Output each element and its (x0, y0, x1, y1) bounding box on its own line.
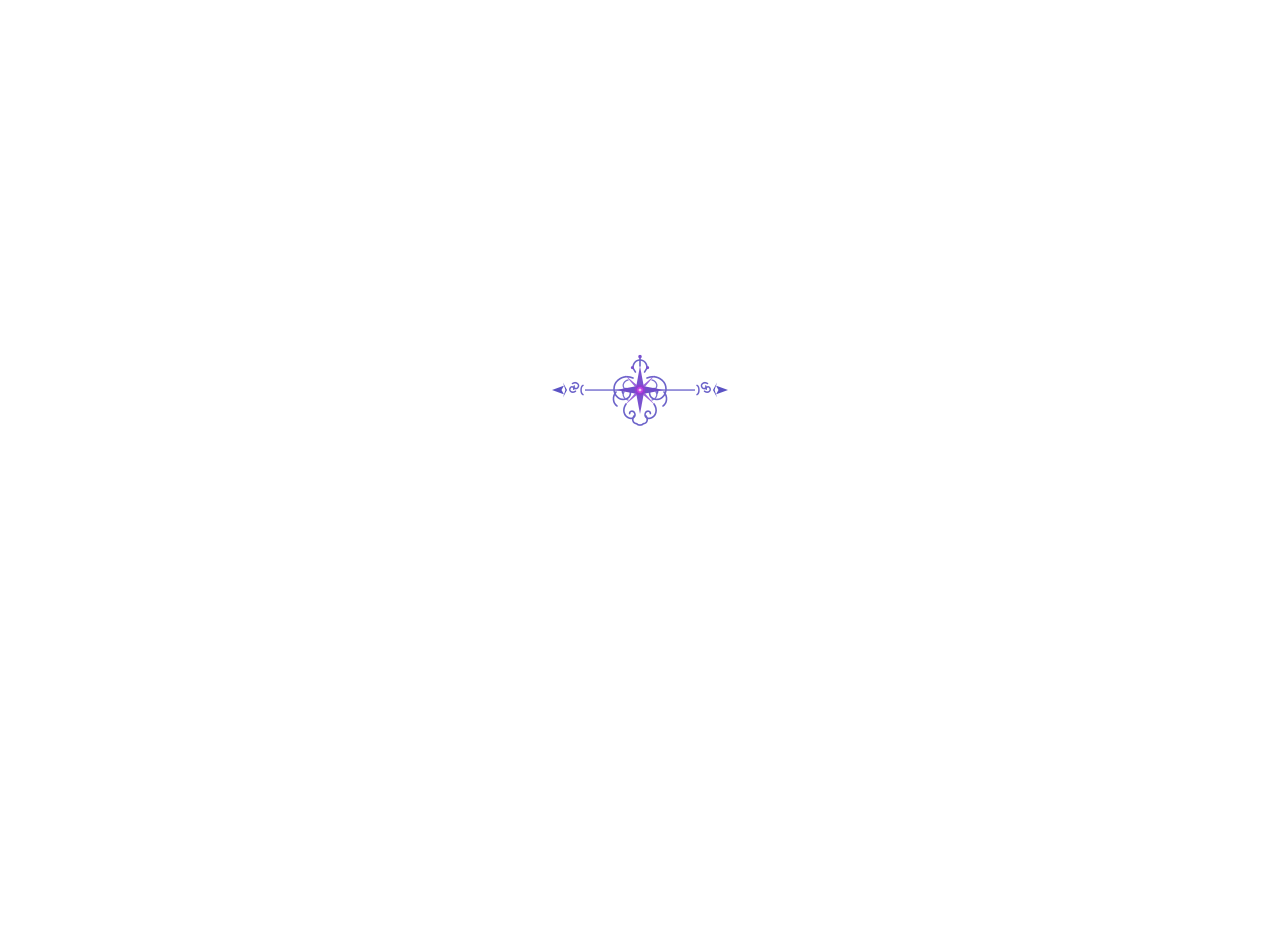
divider-left-scroll-icon (570, 383, 583, 395)
end-card-screen: TO BE CONTINUED (0, 0, 1280, 940)
divider-right-arrow-icon (713, 383, 728, 398)
divider-right-scroll-icon (697, 383, 710, 395)
shine-streak-icon (598, 438, 654, 526)
divider-left-arrow-icon (552, 383, 567, 398)
headline-text: TO BE CONTINUED (232, 436, 1047, 524)
ornamental-divider (550, 355, 730, 425)
divider-center-rosette-icon (613, 355, 666, 425)
end-card-headline: TO BE CONTINUED (0, 436, 1280, 524)
shine-streak (598, 438, 654, 526)
ornamental-divider-graphic (550, 355, 730, 425)
